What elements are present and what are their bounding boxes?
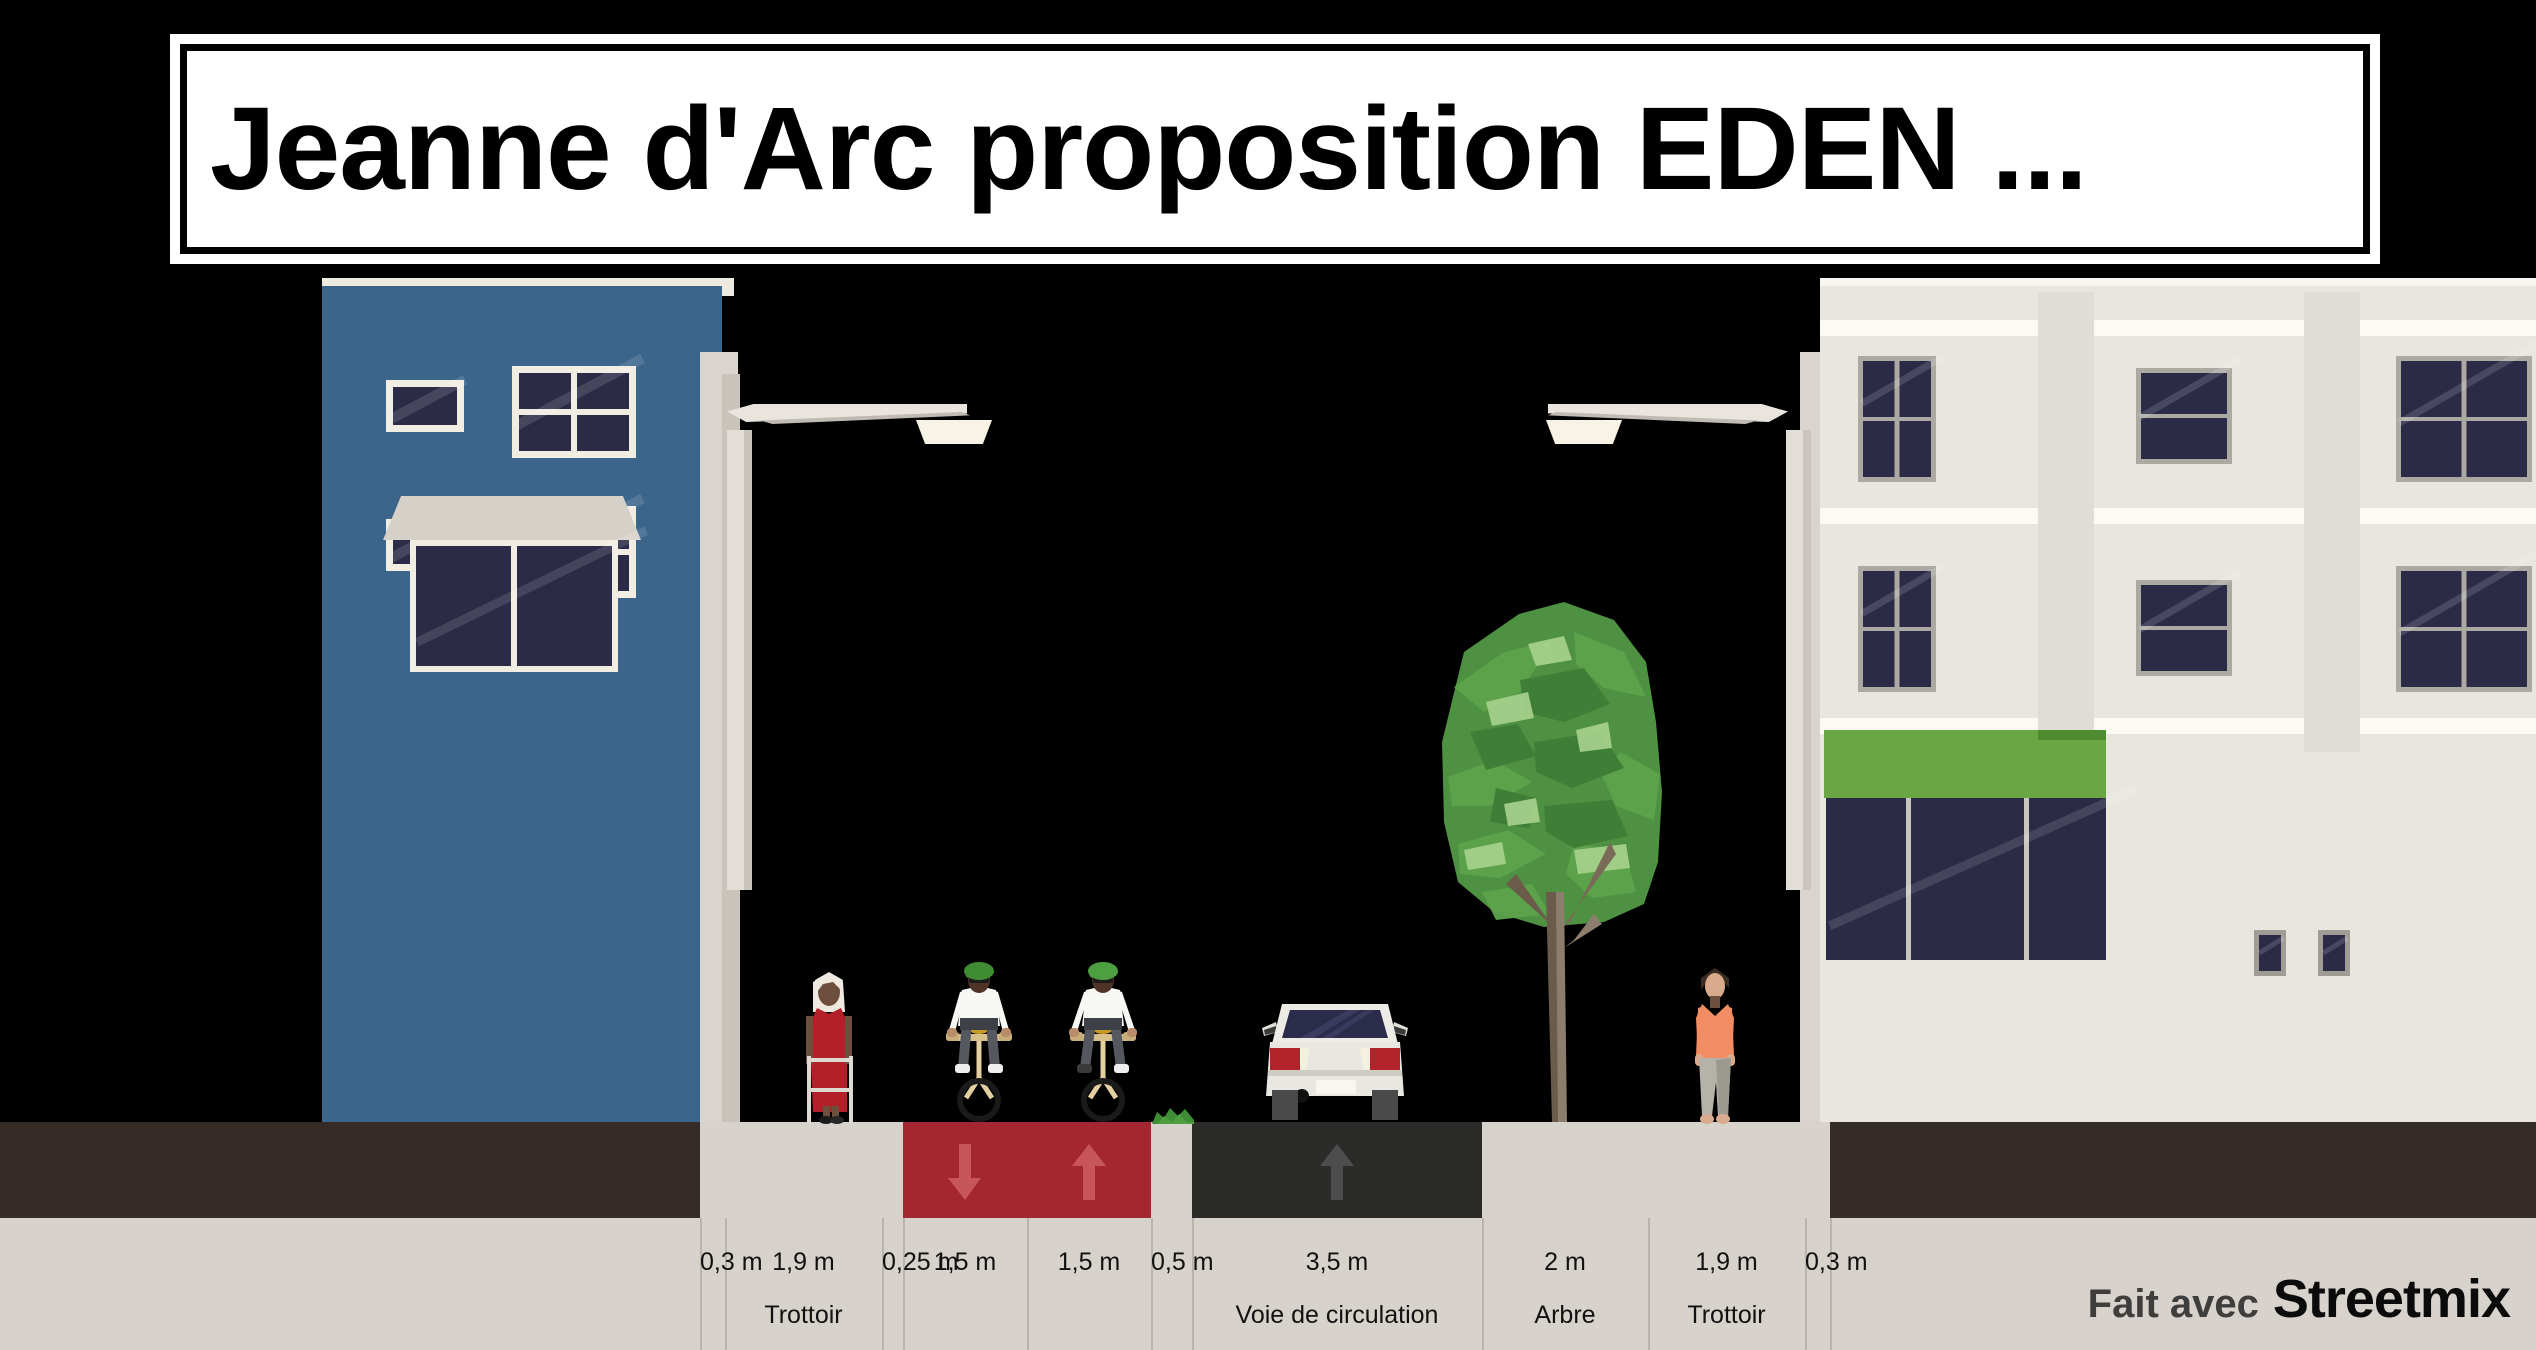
segment-label-2: 0,25 m (882, 1250, 903, 1303)
segment-label-0: 0,3 m (700, 1250, 725, 1303)
right-building-pilaster (2038, 292, 2094, 742)
cyclist-uphill (1046, 960, 1160, 1122)
street-tree (1424, 592, 1674, 1122)
window-tiny (2254, 930, 2286, 976)
segment-surface-curb (882, 1122, 903, 1218)
segment-label-5: 0,5 m (1151, 1250, 1192, 1303)
drive-arrow-up (1314, 1144, 1360, 1200)
segment-surface-divider (1151, 1122, 1192, 1218)
window-quad (1858, 356, 1936, 482)
segment-label-4: 1,5 m (1027, 1250, 1151, 1303)
person-with-walker (795, 968, 865, 1124)
person-walking (1688, 964, 1742, 1124)
bike-arrow-down (942, 1144, 988, 1200)
window-double (2136, 580, 2232, 676)
window-quad (512, 366, 636, 458)
ground-dark-left (0, 1122, 700, 1218)
right-building-awning-shadow (2038, 730, 2106, 740)
bike-arrow-up (1066, 1144, 1112, 1200)
window-quad (2396, 356, 2532, 482)
right-building-band (1820, 320, 2536, 336)
left-building-awning (383, 496, 641, 540)
left-building-storefront-window (410, 540, 618, 672)
car-rear (1262, 1000, 1408, 1122)
segment-surface-sidewalk (1648, 1122, 1805, 1218)
branding-name: Streetmix (2273, 1268, 2510, 1330)
segment-label-9: 0,3 m (1805, 1250, 1830, 1303)
streetmix-branding[interactable]: Fait avec Streetmix (2088, 1268, 2510, 1330)
right-building-pilaster (2304, 292, 2360, 752)
right-building-storefront-window (1826, 798, 2106, 960)
segment-label-7: 2 m Arbre (1482, 1250, 1648, 1328)
segment-label-1: 1,9 m Trottoir (725, 1250, 882, 1328)
segment-label-6: 3,5 m Voie de circulation (1192, 1250, 1482, 1328)
segment-label-3: 1,5 m (903, 1250, 1027, 1303)
cyclist-downhill (922, 960, 1036, 1122)
segment-divider (1830, 1218, 1832, 1350)
segment-surface-sidewalk (725, 1122, 882, 1218)
segment-surface-curb (1805, 1122, 1830, 1218)
segment-surface-curb (700, 1122, 725, 1218)
window-small (386, 380, 464, 432)
branding-prefix: Fait avec (2088, 1282, 2259, 1327)
segment-label-8: 1,9 m Trottoir (1648, 1250, 1805, 1328)
window-quad (2396, 566, 2532, 692)
streetmix-canvas: 0,3 m 1,9 m Trottoir 0,25 m 1,5 m 1,5 m … (0, 0, 2536, 1350)
ground-dark-right (1830, 1122, 2536, 1218)
window-quad (1858, 566, 1936, 692)
right-building-band (1820, 508, 2536, 524)
page-title: Jeanne d'Arc proposition EDEN ... (192, 90, 2087, 208)
segment-surface-tree-lawn (1482, 1122, 1648, 1218)
window-double (2136, 368, 2232, 464)
right-building-awning (1824, 730, 2106, 798)
window-tiny (2318, 930, 2350, 976)
street-title-plaque[interactable]: Jeanne d'Arc proposition EDEN ... (160, 24, 2390, 274)
